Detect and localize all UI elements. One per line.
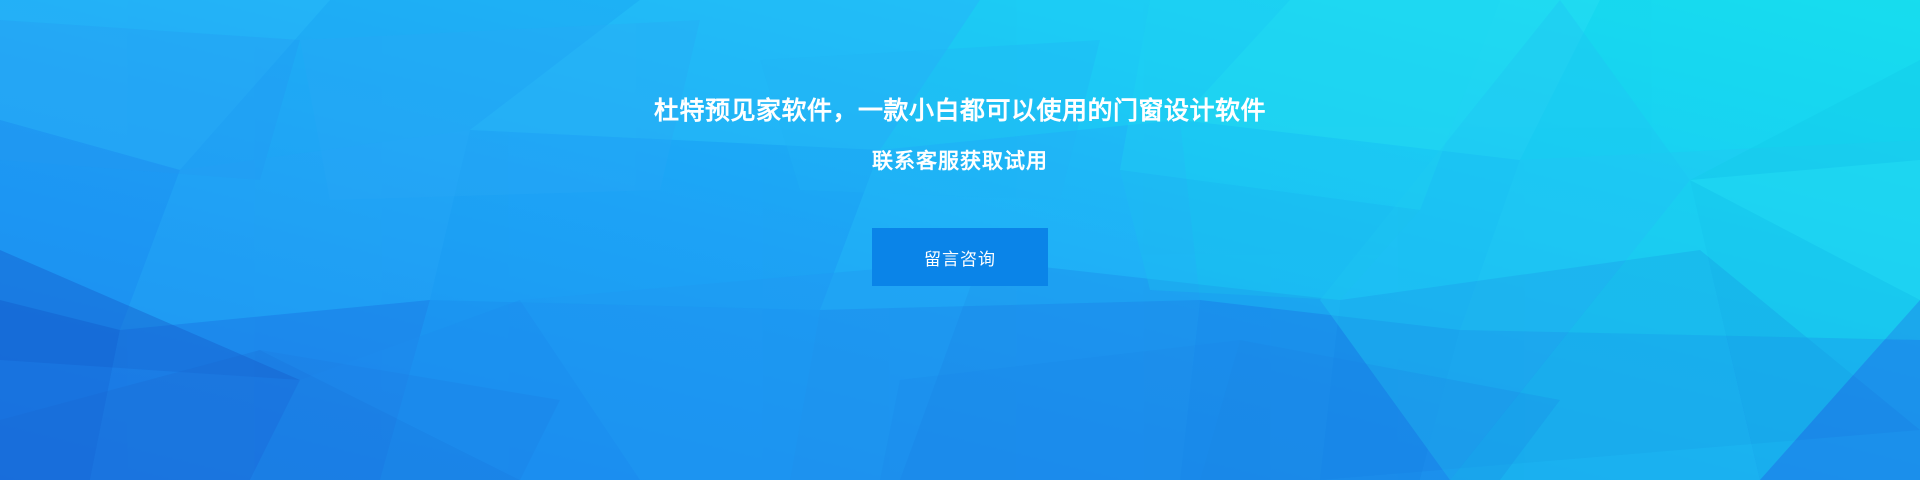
hero-banner: 杜特预见家软件，一款小白都可以使用的门窗设计软件 联系客服获取试用 留言咨询 [0, 0, 1920, 480]
banner-subtitle: 联系客服获取试用 [0, 148, 1920, 175]
banner-content: 杜特预见家软件，一款小白都可以使用的门窗设计软件 联系客服获取试用 留言咨询 [0, 0, 1920, 480]
page-title: 杜特预见家软件，一款小白都可以使用的门窗设计软件 [0, 95, 1920, 128]
cta-container: 留言咨询 [0, 228, 1920, 286]
message-consult-button[interactable]: 留言咨询 [872, 228, 1048, 286]
